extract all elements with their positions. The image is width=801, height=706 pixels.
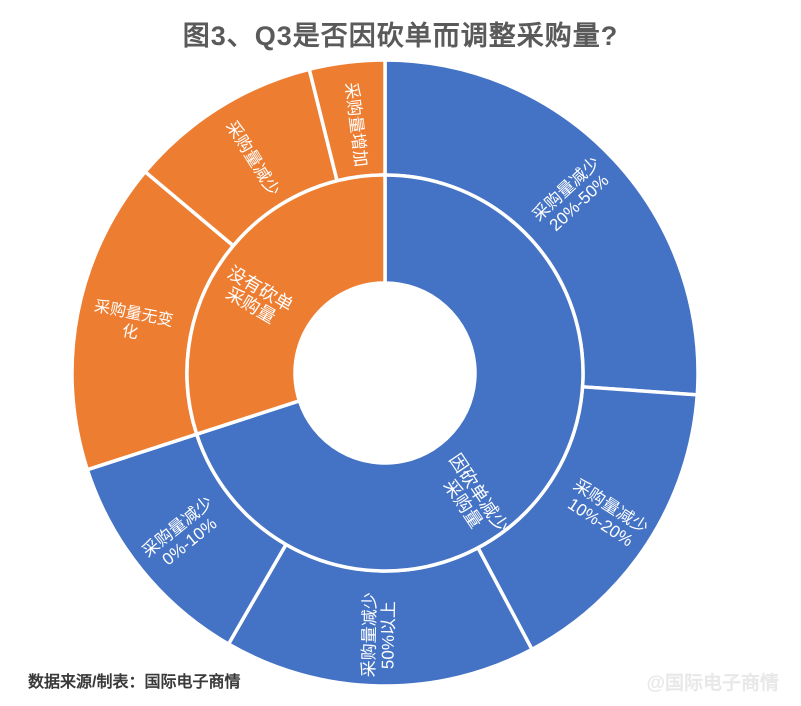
watermark: @国际电子商情 xyxy=(646,668,779,695)
donut-svg: 采购量减少20%-50%采购量减少10%-20%采购量减少50%以上采购量减少0… xyxy=(0,0,801,701)
sunburst-donut-chart: 采购量减少20%-50%采购量减少10%-20%采购量减少50%以上采购量减少0… xyxy=(0,0,801,701)
inner-ring-group xyxy=(187,175,583,571)
outer-ring-group xyxy=(72,60,698,686)
source-note: 数据来源/制表：国际电子商情 xyxy=(28,668,240,692)
outer-label-outer-blue-50-plus: 采购量减少50%以上 xyxy=(360,592,399,678)
